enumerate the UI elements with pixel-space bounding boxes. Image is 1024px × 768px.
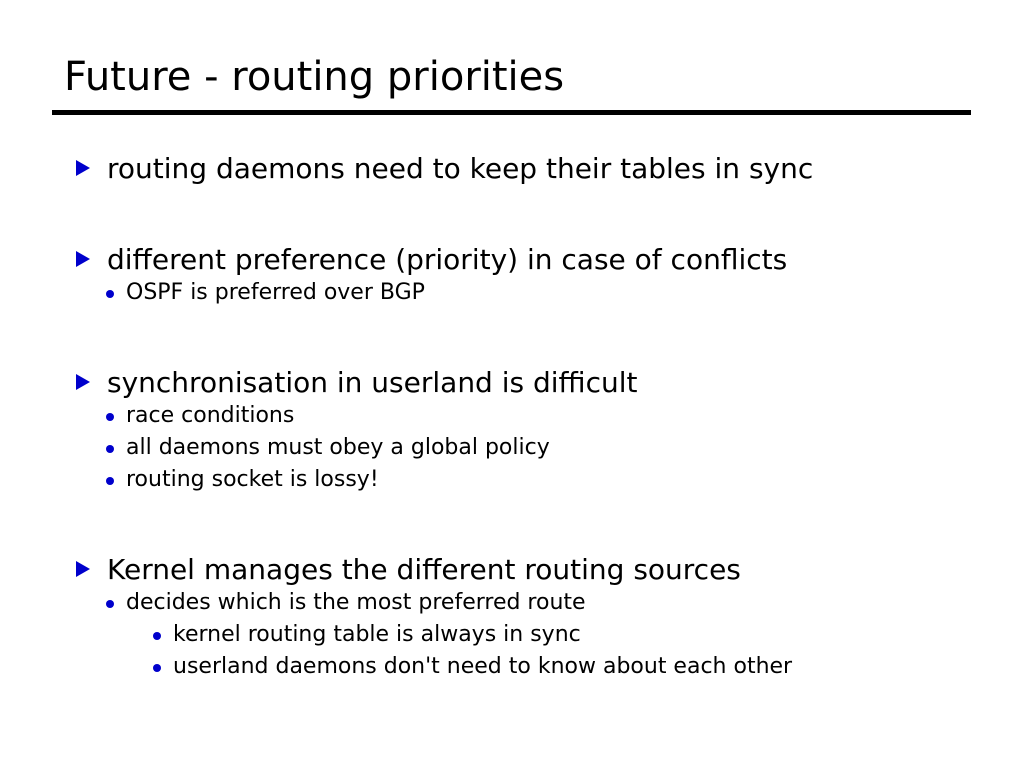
bullet-text: decides which is the most preferred rout… [126, 590, 586, 615]
bullet-text: all daemons must obey a global policy [126, 435, 550, 460]
dot-bullet-icon [106, 445, 114, 453]
slide-title-block: Future - routing priorities [52, 52, 972, 102]
dot-bullet-icon [153, 664, 161, 672]
bullet-level1: Kernel manages the different routing sou… [0, 553, 1024, 587]
triangle-bullet-icon [76, 374, 90, 390]
spacer [0, 496, 1024, 553]
dot-bullet-icon [153, 632, 161, 640]
outline-group-1: routing daemons need to keep their table… [0, 152, 1024, 186]
title-underline-rule [52, 110, 971, 115]
bullet-level2: decides which is the most preferred rout… [0, 587, 1024, 619]
spacer [0, 186, 1024, 243]
triangle-bullet-icon [76, 561, 90, 577]
outline-group-2: different preference (priority) in case … [0, 243, 1024, 309]
bullet-text: OSPF is preferred over BGP [126, 280, 425, 305]
outline-group-4: Kernel manages the different routing sou… [0, 553, 1024, 683]
bullet-text: synchronisation in userland is difficult [107, 366, 638, 399]
bullet-level2: race conditions [0, 400, 1024, 432]
bullet-level3: userland daemons don't need to know abou… [0, 651, 1018, 683]
dot-bullet-icon [106, 290, 114, 298]
triangle-bullet-icon [76, 160, 90, 176]
dot-bullet-icon [106, 600, 114, 608]
outline-group-3: synchronisation in userland is difficult… [0, 366, 1024, 496]
slide-body: routing daemons need to keep their table… [0, 152, 1024, 683]
bullet-level1: routing daemons need to keep their table… [0, 152, 1024, 186]
bullet-level1: synchronisation in userland is difficult [0, 366, 1024, 400]
bullet-level2: all daemons must obey a global policy [0, 432, 1024, 464]
spacer [0, 309, 1024, 366]
dot-bullet-icon [106, 477, 114, 485]
bullet-level2: routing socket is lossy! [0, 464, 1024, 496]
bullet-text: Kernel manages the different routing sou… [107, 553, 741, 586]
bullet-text: kernel routing table is always in sync [173, 622, 581, 647]
triangle-bullet-icon [76, 251, 90, 267]
slide-canvas: Future - routing priorities routing daem… [0, 0, 1024, 768]
bullet-text: different preference (priority) in case … [107, 243, 787, 276]
bullet-text: race conditions [126, 403, 294, 428]
bullet-level2: OSPF is preferred over BGP [0, 277, 1024, 309]
bullet-level1: different preference (priority) in case … [0, 243, 1024, 277]
bullet-text: routing socket is lossy! [126, 467, 379, 492]
bullet-text: routing daemons need to keep their table… [107, 152, 813, 185]
page-title: Future - routing priorities [52, 52, 972, 102]
bullet-level3: kernel routing table is always in sync [0, 619, 1018, 651]
bullet-text: userland daemons don't need to know abou… [173, 654, 792, 679]
dot-bullet-icon [106, 413, 114, 421]
